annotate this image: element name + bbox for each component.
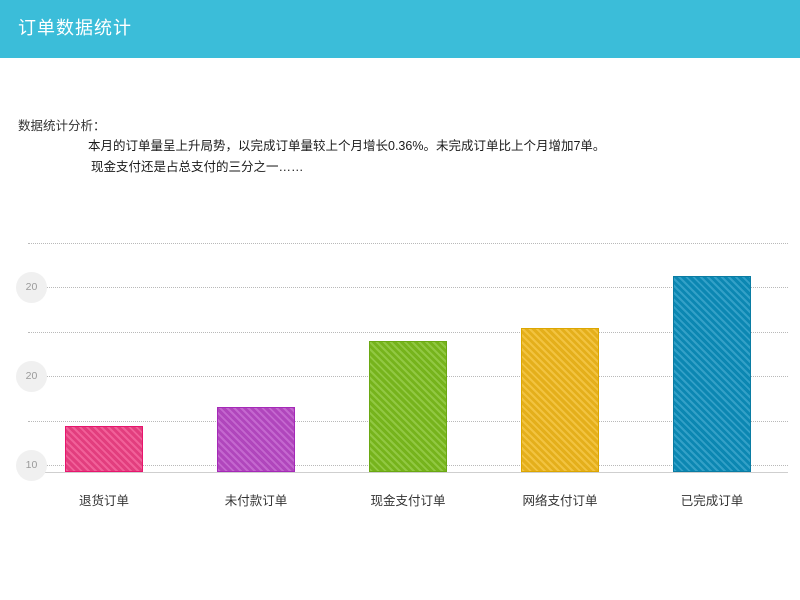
- x-axis-label-1: 未付款订单: [180, 490, 332, 509]
- bar-0[interactable]: [65, 426, 143, 472]
- page-header: 订单数据统计: [0, 0, 800, 58]
- x-axis-label-3: 网络支付订单: [484, 490, 636, 509]
- x-axis-label-4: 已完成订单: [636, 490, 788, 509]
- y-axis-tick-0: 20: [16, 272, 47, 303]
- page-title: 订单数据统计: [18, 15, 132, 41]
- y-axis-tick-1: 20: [16, 361, 47, 392]
- analysis-body: 本月的订单量呈上升局势，以完成订单量较上个月增长0.36%。未完成订单比上个月增…: [88, 136, 788, 178]
- gridline: [28, 243, 788, 244]
- analysis-line-2: 现金支付还是占总支付的三分之一……: [88, 157, 788, 178]
- bar-4[interactable]: [673, 276, 751, 472]
- x-axis-label-0: 退货订单: [28, 490, 180, 509]
- bar-2[interactable]: [369, 341, 447, 472]
- order-statistics-bar-chart: 202010 退货订单未付款订单现金支付订单网络支付订单已完成订单: [0, 230, 800, 520]
- bar-texture: [218, 408, 294, 471]
- bar-texture: [66, 427, 142, 471]
- bar-1[interactable]: [217, 407, 295, 472]
- analysis-label: 数据统计分析：: [18, 115, 106, 134]
- x-axis-label-2: 现金支付订单: [332, 490, 484, 509]
- analysis-line-1: 本月的订单量呈上升局势，以完成订单量较上个月增长0.36%。未完成订单比上个月增…: [88, 139, 605, 153]
- chart-plot-area: 202010: [0, 230, 800, 480]
- y-axis-tick-2: 10: [16, 450, 47, 481]
- bar-texture: [674, 277, 750, 471]
- bar-3[interactable]: [521, 328, 599, 472]
- x-axis-labels: 退货订单未付款订单现金支付订单网络支付订单已完成订单: [0, 480, 800, 510]
- x-axis-baseline: [28, 472, 788, 473]
- bar-texture: [522, 329, 598, 471]
- bar-texture: [370, 342, 446, 471]
